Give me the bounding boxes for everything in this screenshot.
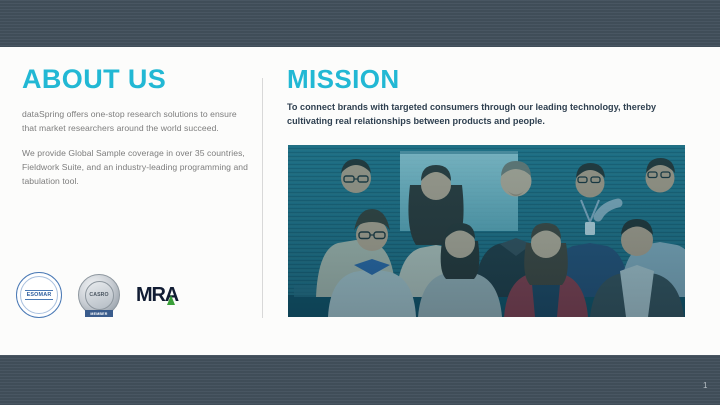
page-number: 1 bbox=[703, 381, 708, 390]
esomar-logo: ESOMAR bbox=[16, 272, 62, 318]
casro-logo: CASRO MEMBER bbox=[76, 272, 122, 318]
about-paragraph-1: dataSpring offers one-stop research solu… bbox=[22, 108, 250, 136]
casro-seal-inner: CASRO bbox=[85, 281, 114, 310]
mission-heading: MISSION bbox=[287, 66, 687, 92]
certification-logos: ESOMAR CASRO MEMBER MRA bbox=[16, 272, 178, 318]
mission-section: MISSION To connect brands with targeted … bbox=[287, 66, 687, 129]
casro-banner: MEMBER bbox=[85, 310, 113, 317]
about-paragraph-2: We provide Global Sample coverage in ove… bbox=[22, 147, 250, 189]
esomar-label: ESOMAR bbox=[25, 290, 54, 300]
bottom-band bbox=[0, 355, 720, 405]
mission-statement: To connect brands with targeted consumer… bbox=[287, 101, 672, 129]
casro-label: CASRO bbox=[89, 292, 108, 298]
mra-logo: MRA bbox=[136, 284, 178, 307]
mra-triangle-icon bbox=[167, 295, 175, 305]
about-us-heading: ABOUT US bbox=[22, 66, 250, 93]
about-us-body: dataSpring offers one-stop research solu… bbox=[22, 93, 250, 189]
slide-root: 1 ABOUT US dataSpring offers one-stop re… bbox=[0, 0, 720, 405]
column-divider bbox=[262, 78, 263, 318]
team-photo bbox=[288, 145, 685, 317]
team-photo-illustration bbox=[288, 145, 685, 317]
about-us-section: ABOUT US dataSpring offers one-stop rese… bbox=[22, 66, 250, 189]
top-band bbox=[0, 0, 720, 47]
mission-body: To connect brands with targeted consumer… bbox=[287, 92, 672, 129]
